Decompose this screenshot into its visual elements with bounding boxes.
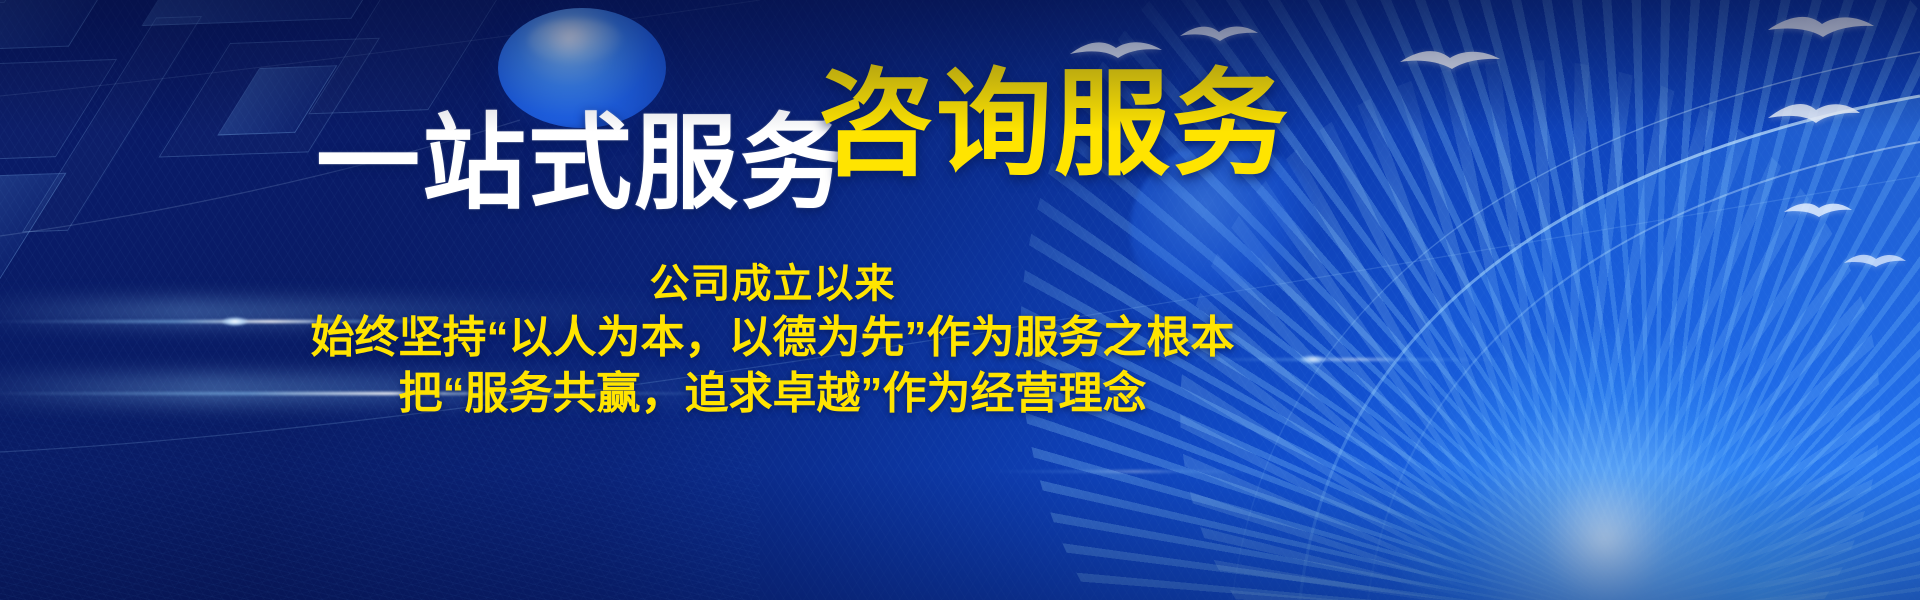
promo-banner: 一站式服务 咨询服务 公司成立以来 始终坚持“以人为本，以德为先”作为服务之根本… [0, 0, 1920, 600]
vignette-overlay [0, 0, 1920, 600]
